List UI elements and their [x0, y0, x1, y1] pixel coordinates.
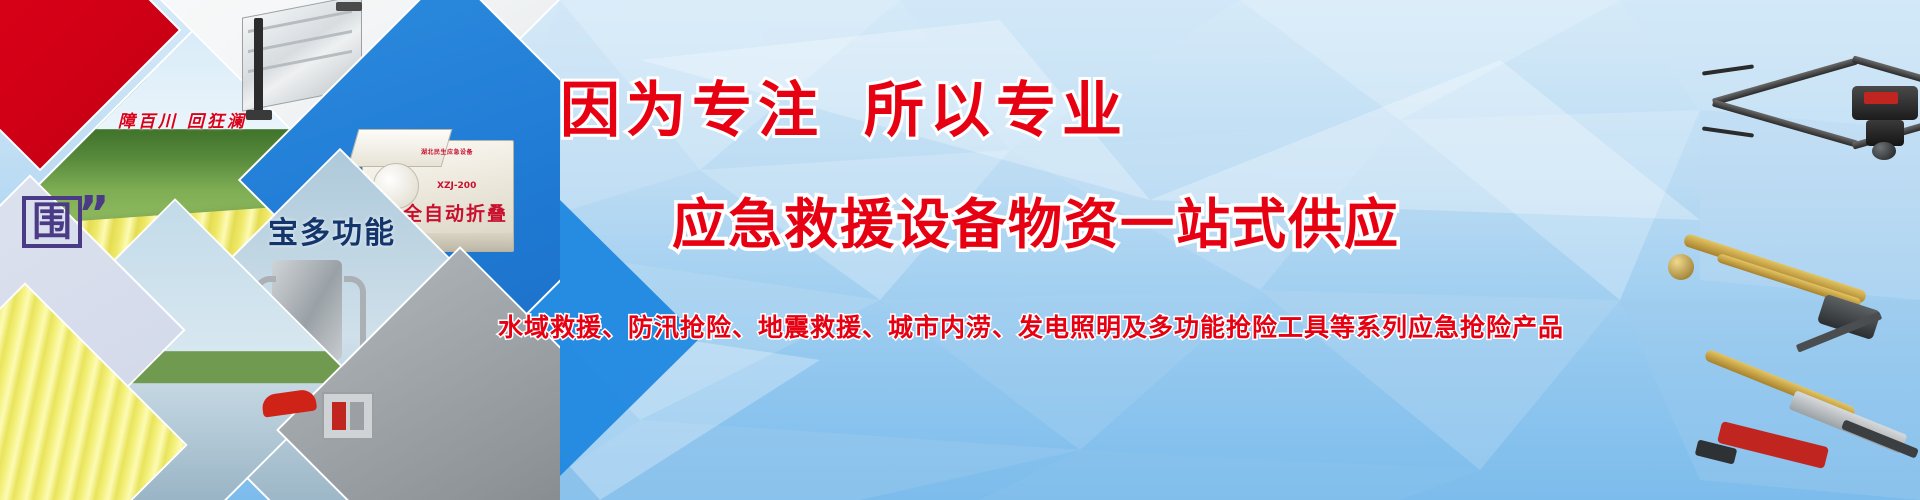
- seal-text: 围: [22, 196, 82, 248]
- machine-model-label: XZJ-200: [437, 181, 476, 191]
- page-title: 因为专注所以专业: [560, 62, 1660, 149]
- gray-box-icon: [322, 392, 374, 440]
- tagline: 水域救援、防汛抢险、地震救援、城市内涝、发电照明及多功能抢险工具等系列应急抢险产…: [498, 308, 1564, 344]
- promo-banner: 障百川 回狂澜 湖北民生应急设备 XZJ-200 全自动折叠: [0, 0, 1920, 500]
- quote-mark: ”: [78, 186, 110, 242]
- machine-brand-label: 湖北民生应急设备: [421, 147, 473, 156]
- sub-title: 应急救援设备物资一站式供应: [672, 180, 1400, 259]
- drone-icon: [1760, 46, 1920, 166]
- headline-part-1: 因为专注: [560, 76, 824, 146]
- red-hook-icon: [262, 386, 322, 426]
- water-cannon-icon: [1690, 252, 1920, 372]
- flood-barrier-caption: 障百川 回狂澜: [118, 107, 247, 132]
- rescue-tool-icon: [1700, 378, 1920, 498]
- headline-part-2: 所以专业: [864, 76, 1128, 146]
- machine-name-label: 全自动折叠: [403, 199, 508, 226]
- product-photo-collage: 障百川 回狂澜 湖北民生应急设备 XZJ-200 全自动折叠: [0, 0, 560, 500]
- collage-bottom-caption: 宝多功能: [268, 208, 396, 252]
